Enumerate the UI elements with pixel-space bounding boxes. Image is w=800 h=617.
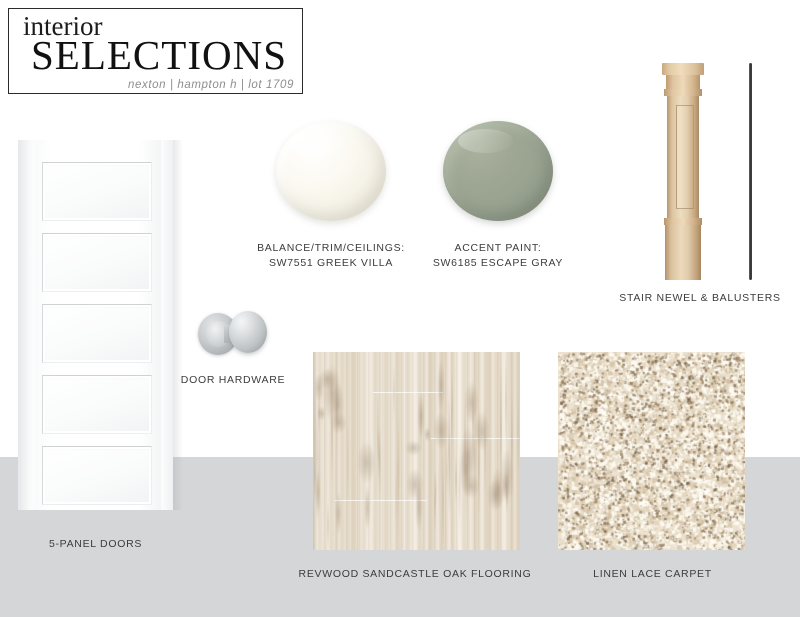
wood-grain-streak xyxy=(397,418,399,542)
newel-body xyxy=(667,96,699,218)
carpet-caption: LINEN LACE CARPET xyxy=(565,568,740,580)
baluster-rod-image xyxy=(749,63,752,280)
flooring-swatch xyxy=(313,352,520,550)
door-panel xyxy=(42,375,152,434)
wood-grain-streak xyxy=(347,422,349,506)
wood-grain-streak xyxy=(505,354,507,446)
newel-neck xyxy=(666,75,700,89)
wood-grain-streak xyxy=(449,406,451,529)
plank-seam xyxy=(373,392,443,393)
wood-grain-mark xyxy=(335,492,343,535)
flooring-caption: REVWOOD SANDCASTLE OAK FLOORING xyxy=(280,568,550,580)
wood-grain-streak xyxy=(472,377,474,464)
door-panel xyxy=(42,162,152,221)
paint-swatch-accent xyxy=(443,121,553,221)
wood-grain-streak xyxy=(378,427,380,477)
wood-grain-streak xyxy=(438,434,440,533)
logo-box: interior SELECTIONS nexton | hampton h |… xyxy=(8,8,303,94)
carpet-swatch xyxy=(558,352,745,550)
carpet-texture xyxy=(558,352,745,550)
wood-grain-streak xyxy=(331,372,333,488)
door-stile-left xyxy=(18,140,35,510)
wood-grain-streak xyxy=(458,453,460,521)
wood-grain-mark xyxy=(424,427,431,443)
wood-grain-streak xyxy=(500,360,502,493)
wood-grain-streak xyxy=(318,389,320,434)
door-image xyxy=(18,140,173,510)
wood-grain-streak xyxy=(435,471,437,506)
paint-swatch-balance xyxy=(276,121,386,221)
wood-grain-mark xyxy=(415,482,423,532)
logo-subtitle: nexton | hampton h | lot 1709 xyxy=(128,79,294,91)
wood-grain-streak xyxy=(393,363,395,420)
door-panel xyxy=(42,233,152,292)
wood-grain-streak xyxy=(442,454,444,545)
newel-collar xyxy=(664,89,702,96)
door-caption: 5-PANEL DOORS xyxy=(18,538,173,550)
interior-selections-board: interior SELECTIONS nexton | hampton h |… xyxy=(0,0,800,617)
door-panel xyxy=(42,304,152,363)
newel-cap xyxy=(662,63,704,75)
paint-accent-caption-line2: SW6185 ESCAPE GRAY xyxy=(398,256,598,271)
wood-grain-streak xyxy=(327,502,329,547)
newel-base-trim xyxy=(664,218,702,225)
door-stile-right xyxy=(161,140,173,510)
wood-grain-streak xyxy=(336,357,338,454)
hardware-caption: DOOR HARDWARE xyxy=(168,374,298,386)
door-panel xyxy=(42,446,152,505)
wood-grain-streak xyxy=(517,386,519,473)
newel-base xyxy=(665,225,701,280)
wood-grain-streak xyxy=(455,454,457,507)
door-drop-shadow xyxy=(173,140,183,510)
paint-accent-caption-line1: ACCENT PAINT: xyxy=(398,241,598,256)
wood-grain-streak xyxy=(511,383,513,502)
wood-grain-streak xyxy=(369,431,371,512)
door-hardware-knob-image xyxy=(198,303,268,365)
newel-caption: STAIR NEWEL & BALUSTERS xyxy=(600,292,800,304)
wood-grain-streak xyxy=(484,400,486,497)
wood-grain-streak xyxy=(478,404,480,521)
wood-grain-mark xyxy=(357,441,376,484)
knob-ball xyxy=(229,311,267,353)
logo-title-selections: SELECTIONS xyxy=(31,35,287,76)
wood-grain-streak xyxy=(506,479,508,514)
stair-newel-post-image xyxy=(662,63,704,280)
paint-accent-caption: ACCENT PAINT: SW6185 ESCAPE GRAY xyxy=(398,241,598,271)
wood-grain-streak xyxy=(420,386,422,457)
wood-grain-streak xyxy=(466,417,468,521)
